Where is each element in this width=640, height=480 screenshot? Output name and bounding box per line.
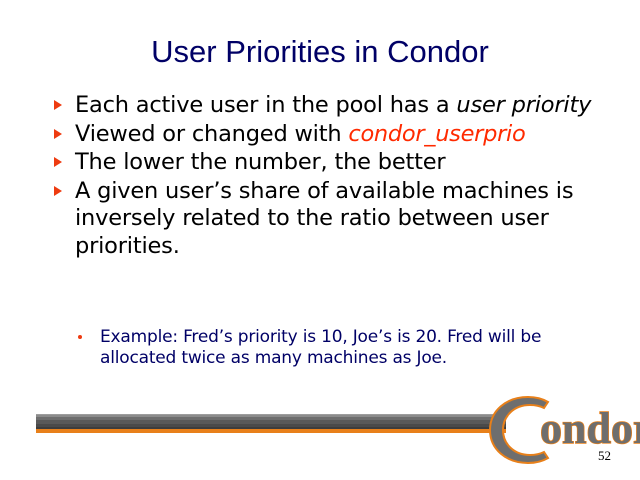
- list-item: Viewed or changed with condor_userprio: [52, 121, 612, 149]
- bullet-text: A given user’s share of available machin…: [75, 178, 612, 261]
- dot-bullet-icon: [78, 335, 82, 339]
- list-item: The lower the number, the better: [52, 149, 612, 177]
- bullet-text: Each active user in the pool has a user …: [75, 92, 612, 120]
- sub-bullet-text: Example: Fred’s priority is 10, Joe’s is…: [100, 327, 594, 369]
- command-name: condor_userprio: [348, 121, 525, 147]
- sub-bullet-list: Example: Fred’s priority is 10, Joe’s is…: [74, 327, 594, 369]
- bullet-text-emphasis: user priority: [456, 92, 591, 118]
- condor-logo-graphic: ondor: [484, 394, 640, 466]
- list-item: Example: Fred’s priority is 10, Joe’s is…: [74, 327, 594, 369]
- logo-wordmark: ondor: [540, 404, 640, 453]
- triangle-bullet-icon: [54, 100, 62, 110]
- bullet-text-segment: Viewed or changed with: [75, 121, 348, 147]
- page-number: 52: [598, 448, 611, 463]
- condor-logo: ondor: [484, 394, 640, 466]
- footer-bar: [36, 414, 506, 429]
- bullet-list: Each active user in the pool has a user …: [52, 92, 612, 261]
- slide-canvas: User Priorities in Condor Each active us…: [0, 0, 640, 480]
- bullet-text: Viewed or changed with condor_userprio: [75, 121, 612, 149]
- list-item: Each active user in the pool has a user …: [52, 92, 612, 120]
- footer-bar-underline: [36, 429, 506, 433]
- triangle-bullet-icon: [54, 129, 62, 139]
- page-title: User Priorities in Condor: [0, 33, 640, 71]
- list-item: A given user’s share of available machin…: [52, 178, 612, 261]
- bullet-text: The lower the number, the better: [75, 149, 612, 177]
- triangle-bullet-icon: [54, 186, 62, 196]
- bullet-text-segment: Each active user in the pool has a: [75, 92, 456, 118]
- triangle-bullet-icon: [54, 157, 62, 167]
